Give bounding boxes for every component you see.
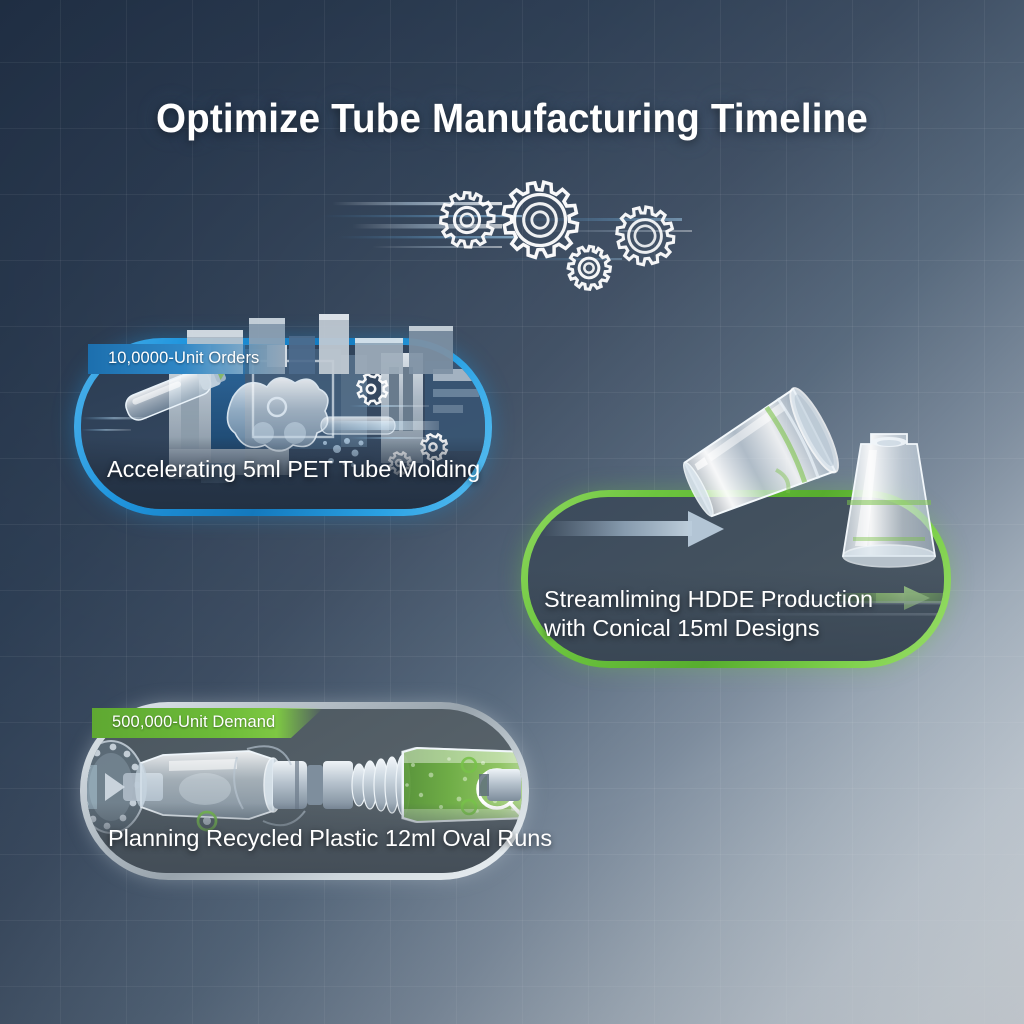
flow-arrow <box>542 511 724 547</box>
card3-caption: Planning Recycled Plastic 12ml Oval Runs <box>108 824 552 853</box>
card2-caption-line1: Streamliming HDDE Production <box>544 586 873 612</box>
infographic-canvas: Optimize Tube Manufacturing Timeline <box>0 0 1024 1024</box>
card-pet-molding[interactable]: 10,0000-Unit Orders Accelerating 5ml PET… <box>74 338 492 516</box>
card1-badge: 10,0000-Unit Orders <box>88 344 285 374</box>
page-title: Optimize Tube Manufacturing Timeline <box>31 95 994 142</box>
gears-icon <box>392 158 732 308</box>
card-hdde-conical[interactable]: Streamliming HDDE Production with Conica… <box>521 490 951 668</box>
card2-caption-line2: with Conical 15ml Designs <box>544 615 820 641</box>
card-recycled-oval[interactable]: 500,000-Unit Demand Planning Recycled Pl… <box>80 702 529 880</box>
card3-badge: 500,000-Unit Demand <box>92 708 323 738</box>
card2-caption: Streamliming HDDE Production with Conica… <box>544 585 873 642</box>
card1-caption: Accelerating 5ml PET Tube Molding <box>107 455 480 484</box>
